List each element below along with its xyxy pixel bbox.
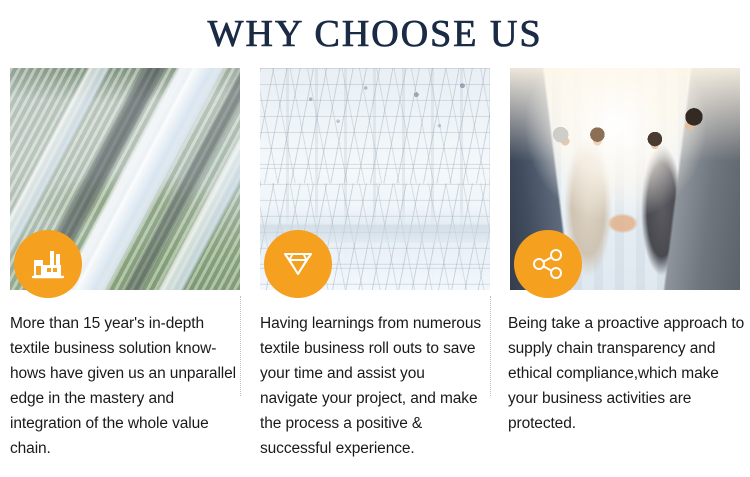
page-title: WHY CHOOSE US xyxy=(0,12,750,56)
card-description: Being take a proactive approach to suppl… xyxy=(508,311,746,436)
factory-icon-badge[interactable] xyxy=(14,230,82,298)
factory-icon xyxy=(31,249,65,279)
feature-card: More than 15 year's in-depth textile bus… xyxy=(0,68,250,477)
card-description: Having learnings from numerous textile b… xyxy=(260,311,484,461)
feature-card: Having learnings from numerous textile b… xyxy=(250,68,500,477)
diamond-icon xyxy=(281,249,315,279)
column-divider xyxy=(490,296,491,396)
column-divider xyxy=(240,296,241,396)
feature-card: Being take a proactive approach to suppl… xyxy=(500,68,750,477)
share-network-icon-badge[interactable] xyxy=(514,230,582,298)
feature-card-list: More than 15 year's in-depth textile bus… xyxy=(0,68,750,477)
share-network-icon xyxy=(531,248,565,280)
diamond-icon-badge[interactable] xyxy=(264,230,332,298)
card-description: More than 15 year's in-depth textile bus… xyxy=(10,311,242,461)
why-choose-us-section: WHY CHOOSE US xyxy=(0,0,750,477)
